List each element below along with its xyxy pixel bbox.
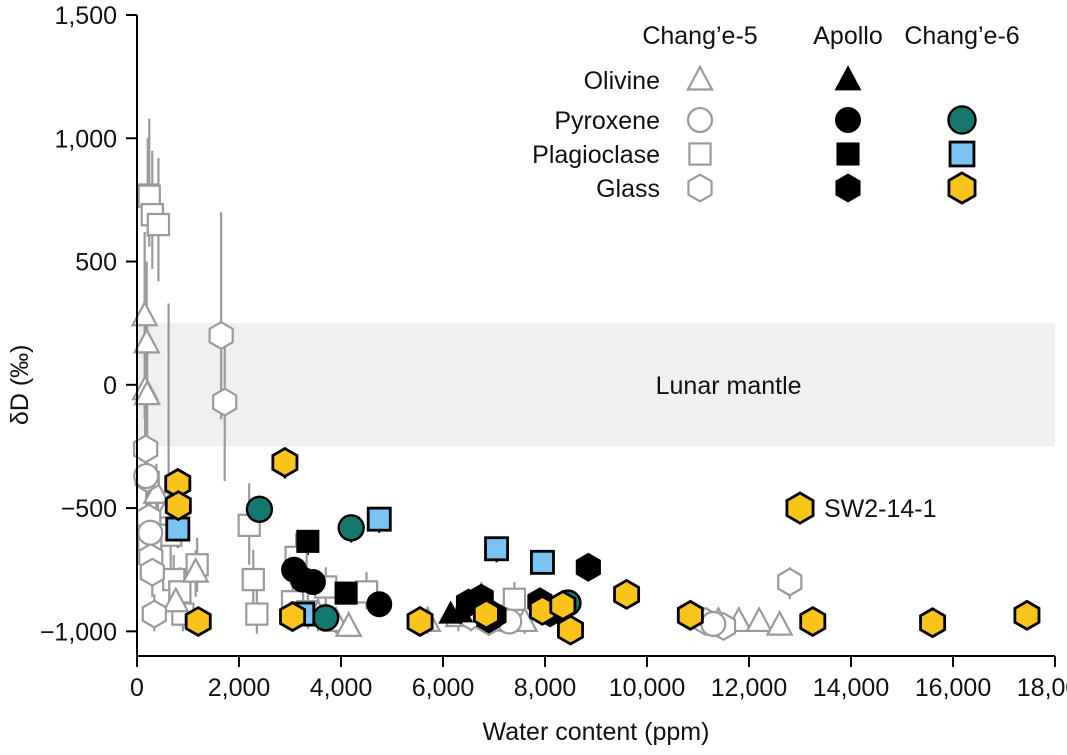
data-point-square-open (148, 214, 169, 235)
data-point-circle-open (701, 612, 725, 636)
lunar-mantle-band (137, 323, 1055, 446)
y-tick-label: 1,500 (54, 2, 117, 30)
data-point-triangle-open (768, 612, 792, 635)
y-tick-label: 500 (75, 249, 117, 277)
x-tick-label: 12,000 (711, 674, 787, 702)
data-point-circle-teal (313, 605, 338, 630)
x-tick-label: 4,000 (310, 674, 373, 702)
data-point-hexagon-yellow (1015, 601, 1039, 629)
x-tick-label: 6,000 (412, 674, 475, 702)
data-point-circle-teal (339, 515, 364, 540)
data-point-hexagon-black (576, 553, 600, 581)
data-point-circle-teal (247, 497, 272, 522)
data-point-hexagon-open (210, 322, 233, 349)
data-point-square-black (297, 530, 319, 552)
legend-marker-chang-e-5 (688, 175, 711, 202)
legend-marker-chang-e-5 (688, 108, 712, 132)
data-point-square-blue (531, 551, 553, 573)
y-tick-label: −500 (61, 495, 117, 523)
y-axis-title: δD (‰) (6, 345, 34, 426)
legend-row-label: Plagioclase (532, 141, 660, 169)
data-point-hexagon-yellow (186, 608, 210, 636)
data-point-hexagon-yellow (166, 492, 190, 520)
lunar-mantle-band-label: Lunar mantle (656, 372, 802, 400)
legend-column-header: Chang’e-5 (642, 22, 757, 50)
x-tick-label: 18,000 (1017, 674, 1067, 702)
data-point-hexagon-yellow (801, 608, 825, 636)
chart-canvas: Lunar mantle1,5001,0005000−500−1,00002,0… (0, 0, 1067, 755)
legend-marker-chang-e-6 (948, 106, 975, 133)
x-tick-label: 0 (130, 674, 144, 702)
x-tick-label: 14,000 (813, 674, 889, 702)
legend-row-label: Glass (596, 175, 660, 203)
data-point-hexagon-open (778, 569, 801, 596)
x-tick-label: 2,000 (208, 674, 271, 702)
data-point-hexagon-yellow (280, 603, 304, 631)
y-tick-label: 1,000 (54, 125, 117, 153)
data-point-square-black (335, 582, 357, 604)
data-point-triangle-open (747, 608, 771, 631)
y-tick-label: −1,000 (40, 618, 117, 646)
data-point-square-blue (167, 518, 189, 540)
legend-row-label: Olivine (584, 67, 660, 95)
legend-column-header: Apollo (813, 22, 883, 50)
legend-marker-chang-e-5 (689, 143, 710, 164)
scatter-plot-svg: Lunar mantle1,5001,0005000−500−1,00002,0… (0, 0, 1067, 755)
legend-marker-chang-e-5 (688, 67, 712, 90)
data-point-hexagon-yellow (921, 609, 945, 637)
data-point-circle-black (367, 592, 392, 617)
legend-marker-apollo (837, 143, 859, 165)
data-point-square-open (246, 604, 267, 625)
legend-row-label: Pyroxene (554, 107, 660, 135)
x-tick-label: 8,000 (514, 674, 577, 702)
data-point-hexagon-open (143, 601, 166, 628)
legend-marker-apollo (835, 66, 860, 90)
legend-marker-apollo (836, 108, 861, 133)
annotation-marker (787, 493, 813, 523)
data-point-square-open (504, 589, 525, 610)
data-point-hexagon-open (141, 559, 164, 586)
legend-marker-apollo (836, 174, 860, 202)
x-tick-label: 10,000 (609, 674, 685, 702)
y-tick-label: 0 (103, 372, 117, 400)
data-point-circle-open (138, 521, 162, 545)
data-point-hexagon-yellow (615, 580, 639, 608)
legend-marker-chang-e-6 (950, 142, 974, 166)
data-point-hexagon-open (213, 389, 236, 416)
data-point-circle-black (300, 570, 325, 595)
legend-marker-chang-e-6 (949, 173, 975, 203)
data-point-hexagon-yellow (273, 449, 297, 477)
data-point-square-blue (486, 538, 508, 560)
annotation-label: SW2-14-1 (824, 495, 937, 523)
data-point-hexagon-yellow (558, 616, 582, 644)
legend-column-header: Chang’e-6 (904, 22, 1019, 50)
data-point-square-open (243, 569, 264, 590)
data-point-hexagon-yellow (678, 601, 702, 629)
x-tick-label: 16,000 (915, 674, 991, 702)
x-axis-title: Water content (ppm) (483, 718, 710, 746)
data-point-hexagon-yellow (474, 600, 498, 628)
data-point-hexagon-yellow (408, 608, 432, 636)
data-point-square-blue (368, 508, 390, 530)
